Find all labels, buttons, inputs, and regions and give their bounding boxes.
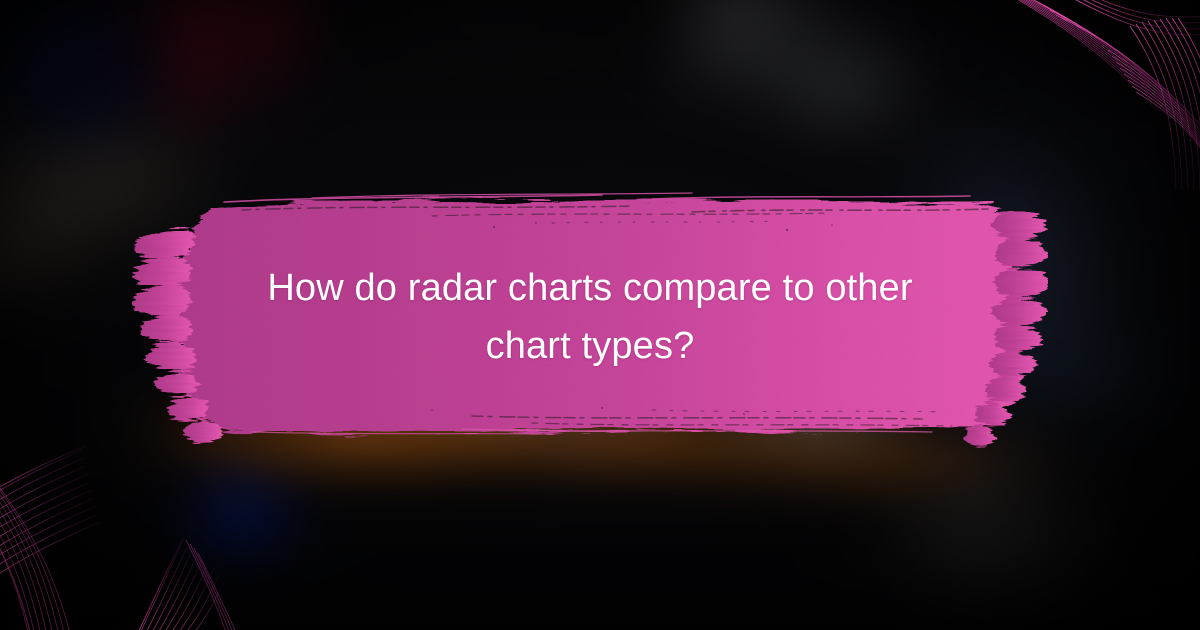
headline-container: How do radar charts compare to other cha… bbox=[160, 196, 1020, 440]
quote-card: How do radar charts compare to other cha… bbox=[0, 0, 1200, 630]
page-title: How do radar charts compare to other cha… bbox=[220, 260, 960, 376]
